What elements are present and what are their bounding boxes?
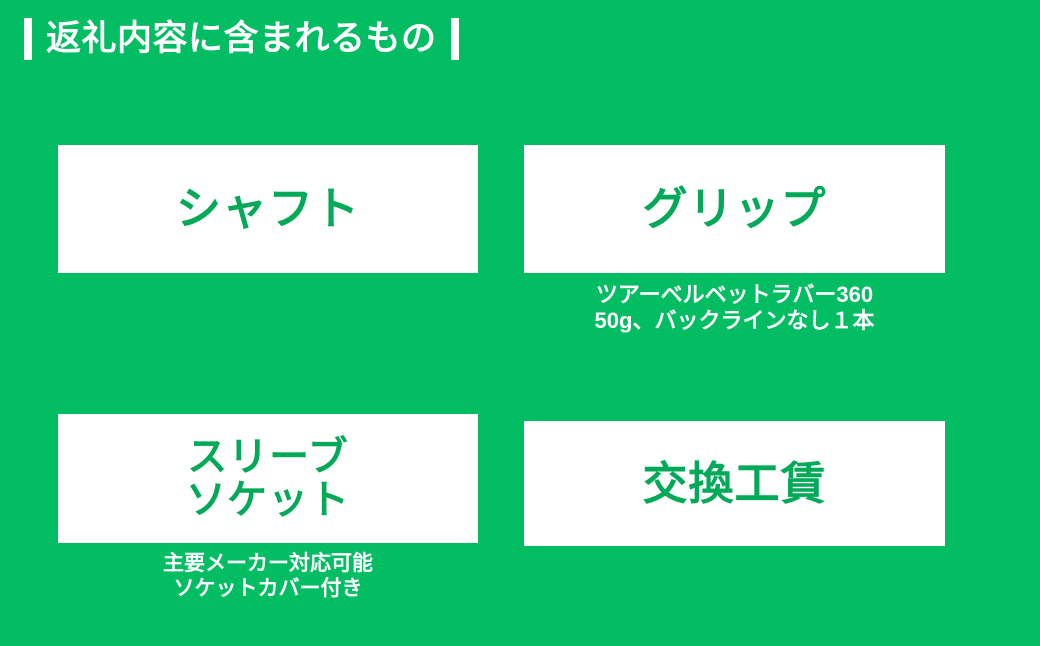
card-replacement-labor-title-line-1: 交換工賃: [642, 460, 826, 508]
reward-contents-poster: 返礼内容に含まれるもの シャフト グリップ ツアーベルベットラバー360 50g…: [0, 0, 1040, 646]
card-sleeve-socket: スリーブ ソケット 主要メーカー対応可能 ソケットカバー付き: [58, 414, 478, 602]
page-title: 返礼内容に含まれるもの: [24, 18, 459, 60]
card-sleeve-socket-caption-line-2: ソケットカバー付き: [58, 577, 478, 602]
card-grip-title-line-1: グリップ: [642, 185, 826, 233]
card-sleeve-socket-title-line-2: ソケット: [186, 478, 350, 522]
card-grip: グリップ ツアーベルベットラバー360 50g、バックラインなし１本: [524, 145, 945, 334]
card-replacement-labor: 交換工賃: [524, 421, 945, 546]
page-title-label: 返礼内容に含まれるもの: [46, 21, 437, 58]
card-sleeve-socket-caption: 主要メーカー対応可能 ソケットカバー付き: [58, 552, 478, 602]
card-grip-plate: グリップ: [524, 145, 945, 273]
card-shaft-title-line-1: シャフト: [176, 185, 360, 233]
card-sleeve-socket-title: スリーブ ソケット: [186, 436, 350, 521]
card-sleeve-socket-title-line-1: スリーブ: [187, 435, 349, 479]
card-grip-caption-line-1: ツアーベルベットラバー360: [524, 282, 945, 308]
card-sleeve-socket-caption-line-1: 主要メーカー対応可能: [58, 552, 478, 577]
card-grip-caption-line-2: 50g、バックラインなし１本: [524, 308, 945, 334]
card-grip-caption: ツアーベルベットラバー360 50g、バックラインなし１本: [524, 282, 945, 334]
card-sleeve-socket-plate: スリーブ ソケット: [58, 414, 478, 543]
card-shaft-plate: シャフト: [58, 145, 478, 273]
title-left-bar-icon: [24, 18, 32, 60]
card-replacement-labor-plate: 交換工賃: [524, 421, 945, 546]
card-shaft: シャフト: [58, 145, 478, 273]
title-right-bar-icon: [451, 18, 459, 60]
